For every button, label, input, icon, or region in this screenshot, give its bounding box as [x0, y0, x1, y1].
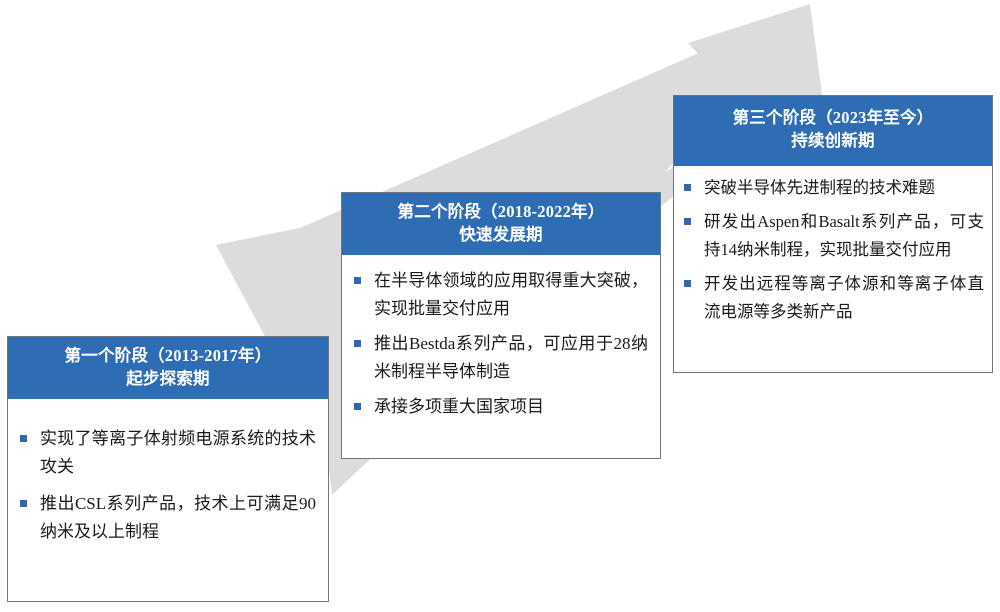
- bullet-square-icon: [684, 280, 691, 287]
- list-item-text: 开发出远程等离子体源和等离子体直流电源等多类新产品: [704, 274, 984, 320]
- stage-3-title-line2: 持续创新期: [678, 129, 988, 152]
- stage-2-header: 第二个阶段（2018-2022年） 快速发展期: [342, 193, 660, 255]
- stage-3-bullet-list: 突破半导体先进制程的技术难题 研发出Aspen和Basalt系列产品，可支持14…: [682, 174, 984, 325]
- bullet-square-icon: [354, 277, 361, 284]
- list-item: 研发出Aspen和Basalt系列产品，可支持14纳米制程，实现批量交付应用: [682, 208, 984, 263]
- list-item: 在半导体领域的应用取得重大突破，实现批量交付应用: [352, 267, 648, 322]
- stage-card-1[interactable]: 第一个阶段（2013-2017年） 起步探索期 实现了等离子体射频电源系统的技术…: [7, 336, 329, 602]
- list-item-text: 承接多项重大国家项目: [374, 397, 544, 416]
- stage-1-title-line2: 起步探索期: [12, 367, 324, 390]
- stage-1-header: 第一个阶段（2013-2017年） 起步探索期: [8, 337, 328, 399]
- list-item: 推出Bestda系列产品，可应用于28纳米制程半导体制造: [352, 330, 648, 385]
- stage-2-title-line1: 第二个阶段（2018-2022年）: [346, 200, 656, 223]
- stage-1-title-line1: 第一个阶段（2013-2017年）: [12, 344, 324, 367]
- diagram-canvas: 第一个阶段（2013-2017年） 起步探索期 实现了等离子体射频电源系统的技术…: [0, 0, 1000, 612]
- stage-card-3[interactable]: 第三个阶段（2023年至今） 持续创新期 突破半导体先进制程的技术难题 研发出A…: [673, 95, 993, 373]
- list-item: 承接多项重大国家项目: [352, 393, 648, 421]
- bullet-square-icon: [684, 218, 691, 225]
- stage-3-header: 第三个阶段（2023年至今） 持续创新期: [674, 96, 992, 166]
- stage-1-body: 实现了等离子体射频电源系统的技术攻关 推出CSL系列产品，技术上可满足90纳米及…: [8, 399, 328, 565]
- bullet-square-icon: [684, 184, 691, 191]
- list-item: 推出CSL系列产品，技术上可满足90纳米及以上制程: [18, 490, 316, 545]
- list-item: 开发出远程等离子体源和等离子体直流电源等多类新产品: [682, 270, 984, 325]
- list-item-text: 推出Bestda系列产品，可应用于28纳米制程半导体制造: [374, 334, 648, 381]
- stage-3-title-line1: 第三个阶段（2023年至今）: [678, 106, 988, 129]
- stage-2-body: 在半导体领域的应用取得重大突破，实现批量交付应用 推出Bestda系列产品，可应…: [342, 255, 660, 439]
- bullet-square-icon: [20, 435, 27, 442]
- stage-card-2[interactable]: 第二个阶段（2018-2022年） 快速发展期 在半导体领域的应用取得重大突破，…: [341, 192, 661, 459]
- stage-2-title-line2: 快速发展期: [346, 223, 656, 246]
- list-item-text: 推出CSL系列产品，技术上可满足90纳米及以上制程: [40, 494, 316, 541]
- list-item-text: 研发出Aspen和Basalt系列产品，可支持14纳米制程，实现批量交付应用: [704, 212, 984, 258]
- stage-1-bullet-list: 实现了等离子体射频电源系统的技术攻关 推出CSL系列产品，技术上可满足90纳米及…: [18, 425, 316, 545]
- stage-2-bullet-list: 在半导体领域的应用取得重大突破，实现批量交付应用 推出Bestda系列产品，可应…: [352, 267, 648, 421]
- list-item-text: 突破半导体先进制程的技术难题: [704, 178, 935, 197]
- bullet-square-icon: [20, 500, 27, 507]
- stage-3-body: 突破半导体先进制程的技术难题 研发出Aspen和Basalt系列产品，可支持14…: [674, 166, 992, 342]
- bullet-square-icon: [354, 403, 361, 410]
- bullet-square-icon: [354, 340, 361, 347]
- list-item: 实现了等离子体射频电源系统的技术攻关: [18, 425, 316, 480]
- list-item-text: 实现了等离子体射频电源系统的技术攻关: [40, 429, 316, 476]
- list-item: 突破半导体先进制程的技术难题: [682, 174, 984, 201]
- list-item-text: 在半导体领域的应用取得重大突破，实现批量交付应用: [374, 271, 648, 318]
